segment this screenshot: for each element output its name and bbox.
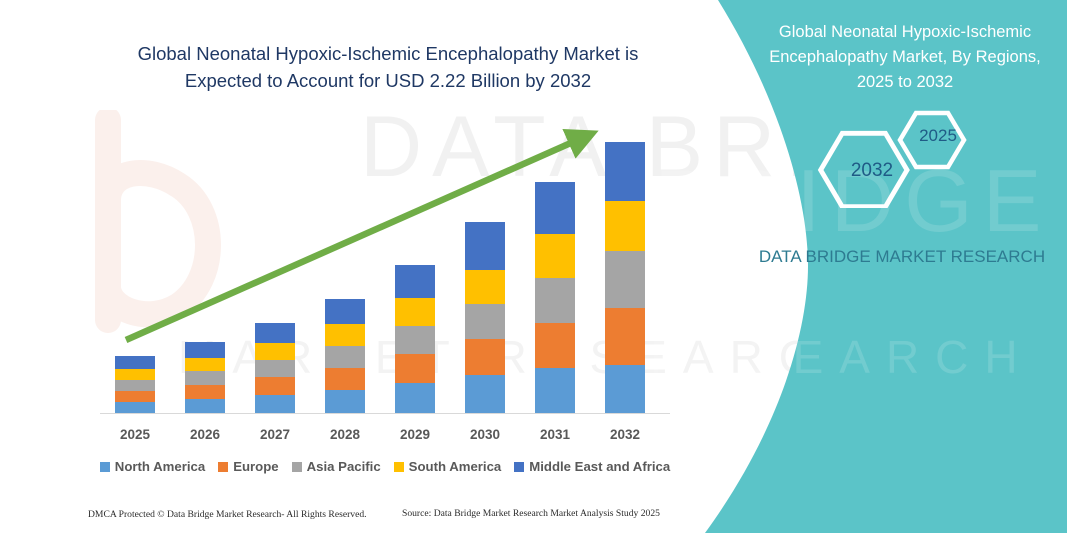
legend-item[interactable]: Asia Pacific bbox=[292, 459, 381, 474]
legend-item[interactable]: Middle East and Africa bbox=[514, 459, 670, 474]
infographic-canvas: DATA BRIDGE MARKET RESEARCH Global Neona… bbox=[0, 0, 1067, 533]
x-axis-tick-label: 2027 bbox=[240, 427, 310, 442]
bar-segment[interactable] bbox=[395, 354, 435, 383]
bar-segment[interactable] bbox=[605, 365, 645, 414]
bar-segment[interactable] bbox=[605, 201, 645, 251]
bar-segment[interactable] bbox=[185, 385, 225, 399]
bar-segment[interactable] bbox=[185, 371, 225, 385]
legend-swatch-icon bbox=[100, 462, 110, 472]
bar-segment[interactable] bbox=[255, 395, 295, 414]
x-axis-line bbox=[100, 413, 670, 414]
bar-segment[interactable] bbox=[395, 265, 435, 298]
bar-segment[interactable] bbox=[255, 377, 295, 395]
bar-segment[interactable] bbox=[395, 326, 435, 354]
bar-segment[interactable] bbox=[185, 342, 225, 358]
bar-stack[interactable] bbox=[185, 342, 225, 414]
bar-segment[interactable] bbox=[255, 323, 295, 343]
bar-segment[interactable] bbox=[115, 356, 155, 369]
footer-source: Source: Data Bridge Market Research Mark… bbox=[402, 508, 660, 519]
bar-stack[interactable] bbox=[115, 356, 155, 414]
bar-segment[interactable] bbox=[115, 380, 155, 391]
bar-segment[interactable] bbox=[465, 304, 505, 339]
x-axis-tick-label: 2025 bbox=[100, 427, 170, 442]
bar-segment[interactable] bbox=[605, 308, 645, 365]
stacked-bar-chart: 20252026202720282029203020312032 bbox=[0, 0, 700, 470]
legend-item[interactable]: Europe bbox=[218, 459, 278, 474]
bar-segment[interactable] bbox=[605, 142, 645, 201]
bar-stack[interactable] bbox=[255, 323, 295, 414]
x-axis-tick-label: 2028 bbox=[310, 427, 380, 442]
bar-stack[interactable] bbox=[325, 299, 365, 414]
bar-segment[interactable] bbox=[255, 343, 295, 360]
legend-item[interactable]: South America bbox=[394, 459, 502, 474]
legend-label: North America bbox=[115, 459, 205, 474]
bar-segment[interactable] bbox=[185, 358, 225, 371]
hexagon-label-end-year: 2032 bbox=[832, 160, 912, 182]
x-axis-tick-label: 2030 bbox=[450, 427, 520, 442]
chart-legend: North AmericaEuropeAsia PacificSouth Ame… bbox=[100, 459, 670, 474]
bar-segment[interactable] bbox=[465, 270, 505, 304]
bar-segment[interactable] bbox=[325, 346, 365, 368]
chart-plot-area bbox=[100, 120, 670, 414]
legend-label: Asia Pacific bbox=[307, 459, 381, 474]
panel-title: Global Neonatal Hypoxic-Ischemic Encepha… bbox=[755, 20, 1055, 95]
legend-item[interactable]: North America bbox=[100, 459, 205, 474]
bar-segment[interactable] bbox=[115, 369, 155, 380]
bar-segment[interactable] bbox=[115, 391, 155, 402]
panel-content: BRIDGE RESEARCH Global Neonatal Hypoxic-… bbox=[660, 0, 1067, 533]
bar-segment[interactable] bbox=[535, 182, 575, 234]
legend-swatch-icon bbox=[394, 462, 404, 472]
bar-stack[interactable] bbox=[605, 142, 645, 414]
bar-segment[interactable] bbox=[325, 368, 365, 390]
bar-segment[interactable] bbox=[325, 390, 365, 414]
x-axis-tick-label: 2026 bbox=[170, 427, 240, 442]
bar-segment[interactable] bbox=[465, 339, 505, 375]
bar-segment[interactable] bbox=[325, 324, 365, 346]
hexagon-year-badges bbox=[800, 108, 1050, 208]
bar-segment[interactable] bbox=[535, 323, 575, 368]
panel-watermark-secondary: RESEARCH bbox=[650, 330, 1034, 384]
legend-label: Europe bbox=[233, 459, 278, 474]
legend-swatch-icon bbox=[218, 462, 228, 472]
bar-segment[interactable] bbox=[535, 278, 575, 323]
legend-label: South America bbox=[409, 459, 502, 474]
bar-segment[interactable] bbox=[255, 360, 295, 377]
bar-segment[interactable] bbox=[535, 368, 575, 414]
bar-segment[interactable] bbox=[465, 222, 505, 270]
bar-segment[interactable] bbox=[465, 375, 505, 414]
footer-copyright: DMCA Protected © Data Bridge Market Rese… bbox=[88, 509, 367, 520]
x-axis-tick-label: 2029 bbox=[380, 427, 450, 442]
bar-segment[interactable] bbox=[395, 383, 435, 414]
hexagon-label-start-year: 2025 bbox=[903, 126, 973, 146]
right-side-panel: BRIDGE RESEARCH Global Neonatal Hypoxic-… bbox=[660, 0, 1067, 533]
legend-swatch-icon bbox=[514, 462, 524, 472]
bar-segment[interactable] bbox=[325, 299, 365, 324]
x-axis-tick-label: 2031 bbox=[520, 427, 590, 442]
x-axis-tick-label: 2032 bbox=[590, 427, 660, 442]
legend-swatch-icon bbox=[292, 462, 302, 472]
bar-stack[interactable] bbox=[535, 182, 575, 414]
bar-stack[interactable] bbox=[465, 222, 505, 414]
bar-segment[interactable] bbox=[395, 298, 435, 326]
panel-brand-name: DATA BRIDGE MARKET RESEARCH bbox=[757, 243, 1047, 271]
bar-stack[interactable] bbox=[395, 265, 435, 414]
bar-segment[interactable] bbox=[535, 234, 575, 278]
bar-segment[interactable] bbox=[605, 251, 645, 308]
bar-segment[interactable] bbox=[185, 399, 225, 414]
legend-label: Middle East and Africa bbox=[529, 459, 670, 474]
